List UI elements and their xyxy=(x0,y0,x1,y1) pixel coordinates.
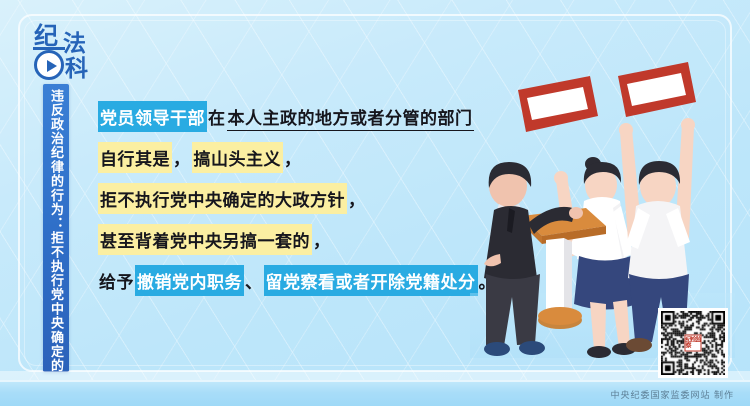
body-text-line-3: 拒不执行党中央确定的大政方针， xyxy=(98,178,518,219)
text-segment-punct: 、 xyxy=(244,266,264,295)
footer-credit: 中央纪委国家监委网站 制作 xyxy=(610,388,734,401)
logo-char-ke: 科 xyxy=(65,57,88,80)
text-segment-plain: 在 xyxy=(207,102,227,131)
text-segment-punct: ， xyxy=(312,225,332,254)
body-text-line-2: 自行其是，搞山头主义， xyxy=(98,137,518,178)
bottom-light-strip xyxy=(0,371,750,380)
logo-char-ji: 纪 xyxy=(34,25,58,49)
text-segment-punct: ， xyxy=(347,184,367,213)
qr-center-logo: 纪检监察 xyxy=(685,335,702,352)
text-segment-hl-yellow: 搞山头主义 xyxy=(192,142,284,173)
text-segment-hl-yellow: 自行其是 xyxy=(98,142,172,173)
red-placard-right xyxy=(618,62,696,117)
text-segment-underlined: 本人主政的地方或者分管的部门 xyxy=(227,102,474,131)
text-segment-punct: ， xyxy=(172,143,192,172)
play-triangle-icon xyxy=(34,50,64,80)
logo-char-fa: 法 xyxy=(63,32,86,55)
logo-jifa-baike: 纪 法 科 xyxy=(33,24,95,86)
text-segment-plain: 给予 xyxy=(98,266,135,295)
body-text-block: 党员领导干部在本人主政的地方或者分管的部门自行其是，搞山头主义，拒不执行党中央确… xyxy=(98,96,518,301)
text-segment-hl-blue: 撤销党内职务 xyxy=(135,265,244,296)
text-segment-punct: ， xyxy=(283,143,303,172)
body-text-line-4: 甚至背着党中央另搞一套的， xyxy=(98,219,518,260)
text-segment-hl-blue: 党员领导干部 xyxy=(98,101,207,132)
qr-code[interactable]: 纪检监察 xyxy=(658,308,728,378)
body-text-line-5: 给予撤销党内职务、留党察看或者开除党籍处分。 xyxy=(98,260,518,301)
body-text-line-1: 党员领导干部在本人主政的地方或者分管的部门 xyxy=(98,96,518,137)
text-segment-hl-blue: 留党察看或者开除党籍处分 xyxy=(264,265,478,296)
poster-root: 纪 法 科 违反政治纪律的行为：拒不执行党中央确定的大政方针 党员领导干部在本人… xyxy=(0,0,750,406)
text-segment-hl-yellow: 拒不执行党中央确定的大政方针 xyxy=(98,183,347,214)
vertical-title-banner: 违反政治纪律的行为：拒不执行党中央确定的大政方针 xyxy=(43,84,69,372)
text-segment-hl-yellow: 甚至背着党中央另搞一套的 xyxy=(98,224,312,255)
